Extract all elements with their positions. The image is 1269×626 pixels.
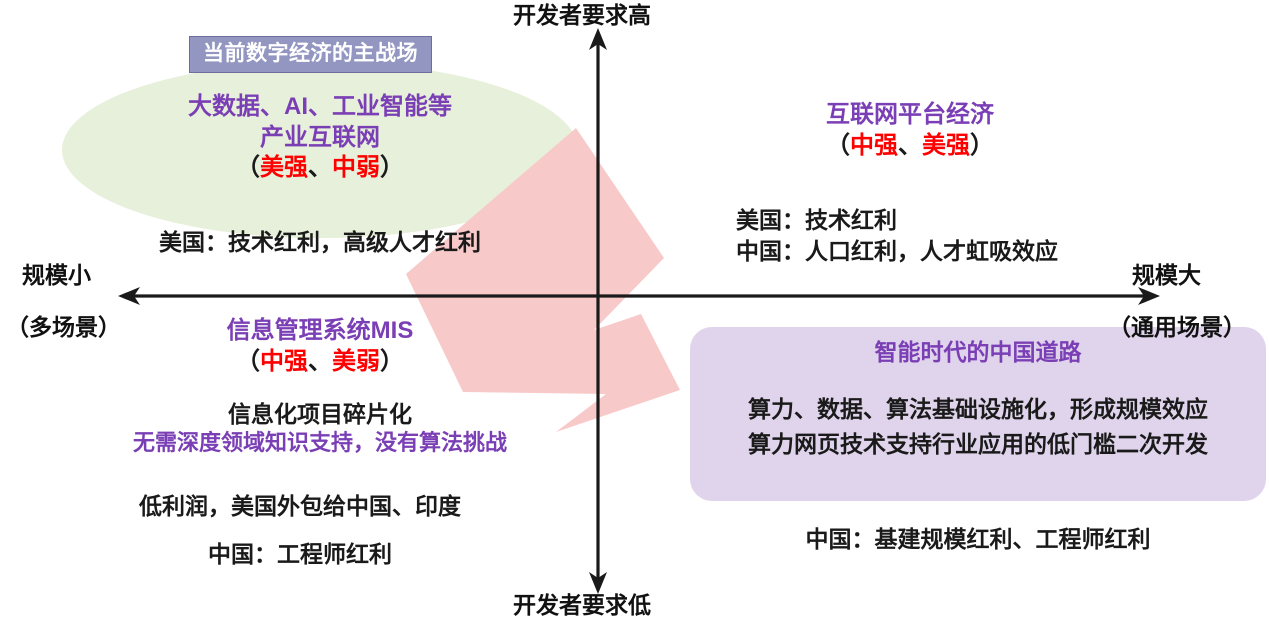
- tl-rating-a: 美强: [260, 154, 308, 181]
- axis-label-right: 规模大 （通用场景）: [1108, 262, 1246, 315]
- tl-heading-line2: 产业互联网: [135, 123, 505, 154]
- bl-note-line1: 低利润，美国外包给中国、印度: [85, 492, 515, 521]
- bl-rating-b: 美弱: [332, 348, 380, 375]
- tl-rating-close: ）: [380, 154, 404, 181]
- quadrant-top-left-note: 美国：技术红利，高级人才红利: [120, 228, 520, 257]
- tl-rating-sep: 、: [308, 154, 332, 181]
- tr-heading: 互联网平台经济: [690, 100, 1130, 131]
- tr-rating-b: 美强: [922, 132, 970, 159]
- bl-rating: （中强、美弱）: [130, 347, 510, 378]
- tl-rating-open: （: [236, 154, 260, 181]
- bl-detail-purple: 无需深度领域知识支持，没有算法挑战: [60, 429, 580, 457]
- quadrant-bottom-right-body: 算力、数据、算法基础设施化，形成规模效应 算力网页技术支持行业应用的低门槛二次开…: [690, 392, 1266, 461]
- bl-rating-a: 中强: [260, 348, 308, 375]
- bl-rating-open: （: [236, 348, 260, 375]
- bl-rating-sep: 、: [308, 348, 332, 375]
- br-body-line1: 算力、数据、算法基础设施化，形成规模效应: [690, 392, 1266, 427]
- tr-rating-sep: 、: [898, 132, 922, 159]
- quadrant-bottom-right-heading: 智能时代的中国道路: [690, 338, 1266, 367]
- axis-label-bottom: 开发者要求低: [513, 592, 651, 618]
- axis-label-top: 开发者要求高: [513, 2, 651, 28]
- axis-label-left: 规模小 （多场景）: [6, 262, 121, 315]
- tl-rating-b: 中弱: [332, 154, 380, 181]
- bl-rating-close: ）: [380, 348, 404, 375]
- axis-label-left-line2: （多场景）: [6, 314, 121, 340]
- quadrant-bottom-left-detail: 信息化项目碎片化 无需深度领域知识支持，没有算法挑战: [60, 400, 580, 458]
- quadrant-bottom-right-note: 中国：基建规模红利、工程师红利: [690, 525, 1266, 554]
- tr-rating-close: ）: [970, 132, 994, 159]
- quadrant-top-left-heading: 大数据、AI、工业智能等 产业互联网 （美强、中弱）: [135, 92, 505, 184]
- quadrant-bottom-left-heading: 信息管理系统MIS （中强、美弱）: [130, 316, 510, 377]
- bl-detail-black: 信息化项目碎片化: [60, 400, 580, 429]
- bl-note-line2: 中国：工程师红利: [85, 540, 515, 569]
- axis-label-right-line2: （通用场景）: [1108, 314, 1246, 340]
- tr-rating-open: （: [826, 132, 850, 159]
- tr-note-line2: 中国：人口红利，人才虹吸效应: [736, 236, 1058, 267]
- diagram-canvas: 开发者要求高 开发者要求低 规模小 （多场景） 规模大 （通用场景） 当前数字经…: [0, 0, 1269, 626]
- tr-rating: （中强、美强）: [690, 131, 1130, 162]
- tl-rating: （美强、中弱）: [135, 153, 505, 184]
- title-badge: 当前数字经济的主战场: [189, 36, 432, 73]
- bl-heading: 信息管理系统MIS: [130, 316, 510, 347]
- br-body-line2: 算力网页技术支持行业应用的低门槛二次开发: [690, 427, 1266, 462]
- tr-note-line1: 美国：技术红利: [736, 205, 1058, 236]
- axis-label-left-line1: 规模小: [22, 262, 137, 288]
- axis-label-right-line1: 规模大: [1132, 262, 1269, 288]
- quadrant-top-right-heading: 互联网平台经济 （中强、美强）: [690, 100, 1130, 161]
- quadrant-top-right-note: 美国：技术红利 中国：人口红利，人才虹吸效应: [736, 205, 1058, 267]
- tl-heading-line1: 大数据、AI、工业智能等: [135, 92, 505, 123]
- tr-rating-a: 中强: [850, 132, 898, 159]
